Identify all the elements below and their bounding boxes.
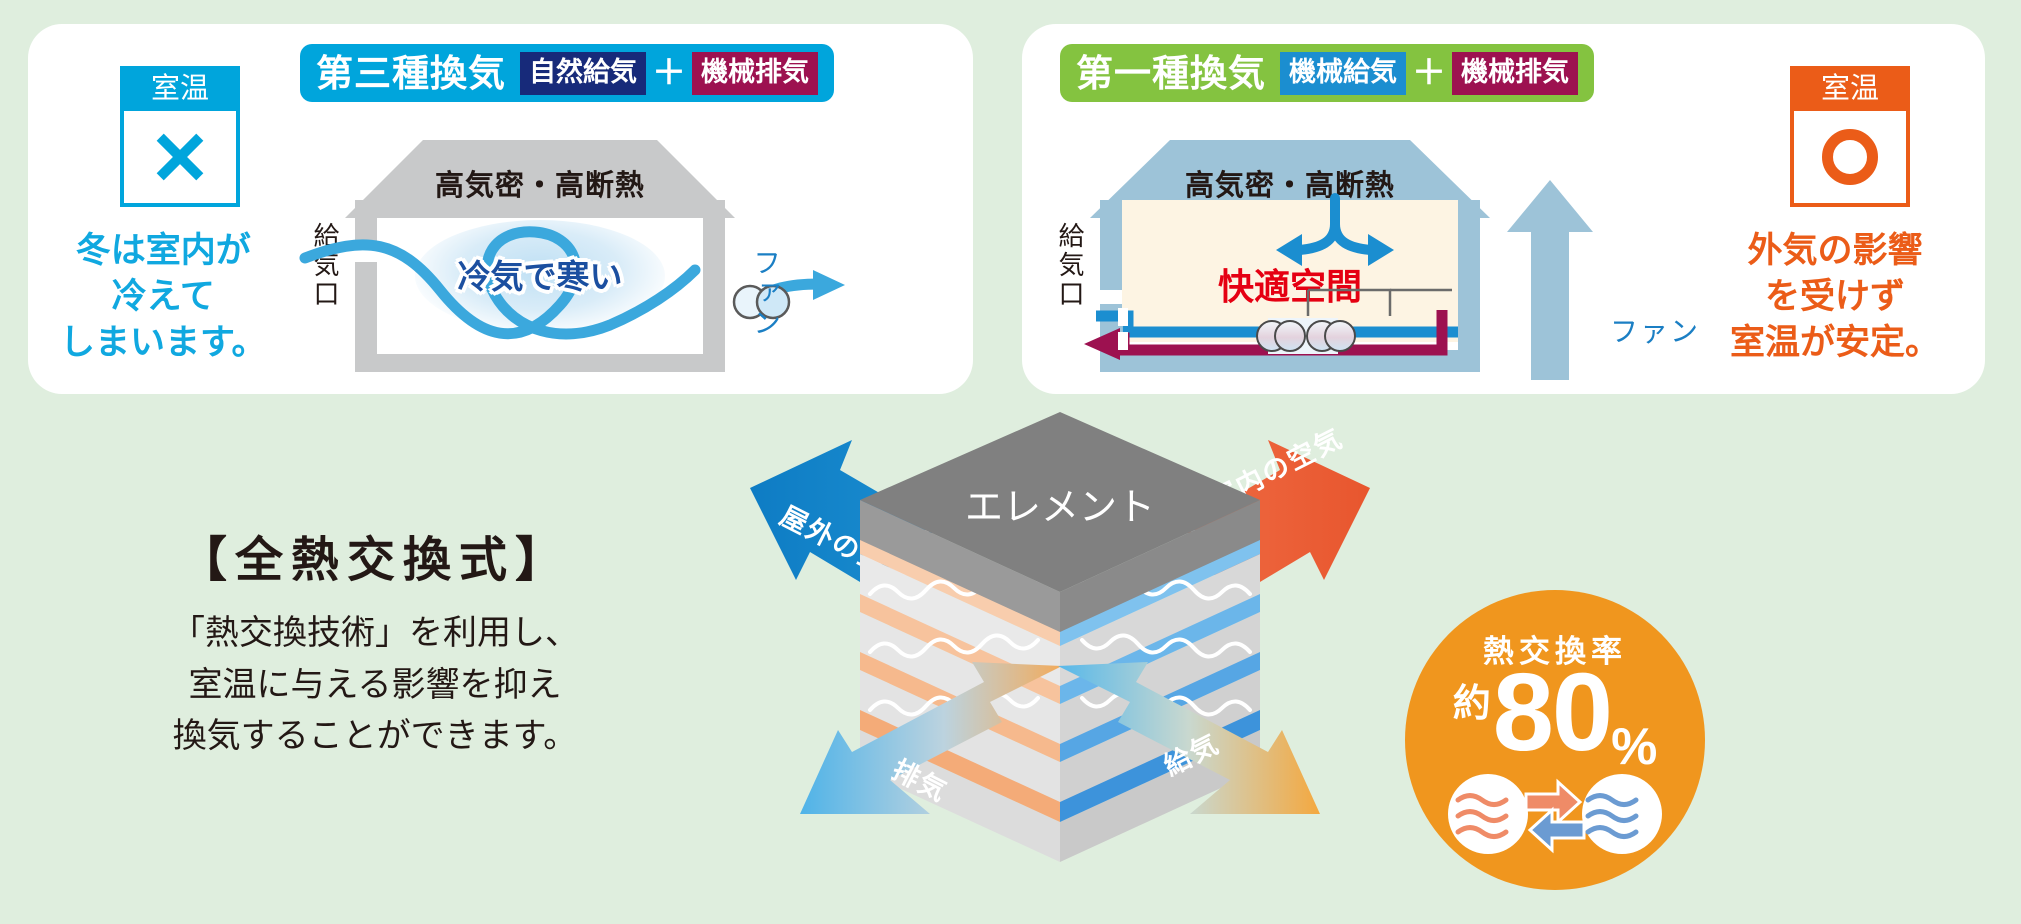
caption-line: しまいます。	[60, 320, 267, 366]
temp-box-body-right	[1794, 111, 1906, 203]
roof-left: 高気密・高断熱	[345, 140, 735, 218]
panel-right-title: 第一種換気	[1076, 55, 1266, 92]
o-mark-icon	[1822, 129, 1878, 185]
bottom-body-line: 「熱交換技術」を利用し、	[140, 608, 610, 660]
badge-number: 80	[1493, 651, 1611, 774]
badge-exchange-icon	[1405, 772, 1705, 856]
wall-bottom	[1100, 350, 1480, 372]
house-diagram-right: 高気密・高断熱 快適空間	[1090, 140, 1490, 372]
caption-line: を受けず	[1730, 274, 1940, 320]
panel-left-temp-box: 室温	[120, 66, 240, 207]
temp-box-body-left	[124, 111, 236, 203]
badge-approx: 約	[1453, 683, 1491, 725]
inlet-label-right: 給気口	[1057, 222, 1083, 309]
bottom-body-line: 換気することができます。	[140, 711, 610, 763]
caption-line: 外気の影響	[1730, 228, 1940, 274]
temp-box-caption-left: 室温	[124, 70, 236, 111]
plus-icon: ＋	[1412, 56, 1446, 90]
comfort-text: 快適空間	[1090, 258, 1490, 310]
heat-exchange-glyph	[1440, 772, 1670, 856]
badge-unit: %	[1611, 718, 1657, 776]
panel-left-title: 第三種換気	[316, 55, 506, 92]
inlet-label-left: 給気口	[312, 222, 338, 309]
bottom-body: 「熱交換技術」を利用し、 室温に与える影響を抑え 換気することができます。	[140, 608, 610, 763]
fan-label-left: ファン	[745, 248, 785, 338]
panel-left-caption: 冬は室内が 冷えて しまいます。	[60, 228, 267, 367]
efficiency-badge: 熱交換率 約80%	[1405, 590, 1705, 890]
house-diagram-left: 高気密・高断熱 冷気で寒い	[345, 140, 735, 372]
panel-right-tag-exhaust: 機械排気	[1452, 52, 1578, 95]
plus-icon: ＋	[652, 56, 686, 90]
panel-right-caption: 外気の影響 を受けず 室温が安定。	[1730, 228, 1940, 367]
wall-bottom	[355, 354, 725, 372]
caption-line: 冷えて	[60, 274, 267, 320]
badge-value-row: 約80%	[1405, 658, 1705, 773]
heat-exchanger-diagram: 屋外の空気 室内の空気	[740, 430, 1380, 910]
fan-label-right: ファン	[1610, 310, 1700, 350]
bottom-title: 【全熱交換式】	[140, 520, 610, 590]
temp-box-caption-right: 室温	[1794, 70, 1906, 111]
element-label: エレメント	[965, 487, 1155, 529]
panel-right-tag-intake: 機械給気	[1280, 52, 1406, 95]
bottom-text-block: 【全熱交換式】 「熱交換技術」を利用し、 室温に与える影響を抑え 換気することが…	[140, 520, 610, 763]
infographic-stage: 第三種換気 自然給気 ＋ 機械排気 室温 冬は室内が 冷えて しまいます。 給気…	[0, 0, 2021, 924]
panel-left-header: 第三種換気 自然給気 ＋ 機械排気	[300, 44, 834, 102]
panel-left-tag-intake: 自然給気	[520, 52, 646, 95]
element-stack-icon: 屋外の空気 室内の空気	[740, 430, 1380, 910]
panel-left-tag-exhaust: 機械排気	[692, 52, 818, 95]
roof-label-left: 高気密・高断熱	[345, 162, 735, 204]
bottom-body-line: 室温に与える影響を抑え	[140, 660, 610, 712]
caption-line: 室温が安定。	[1730, 320, 1940, 366]
panel-right-temp-box: 室温	[1790, 66, 1910, 207]
x-mark-icon	[152, 129, 208, 185]
cold-air-text: 冷気で寒い	[345, 250, 735, 298]
caption-line: 冬は室内が	[60, 228, 267, 274]
panel-right-header: 第一種換気 機械給気 ＋ 機械排気	[1060, 44, 1594, 102]
roof-label-right: 高気密・高断熱	[1090, 162, 1490, 204]
